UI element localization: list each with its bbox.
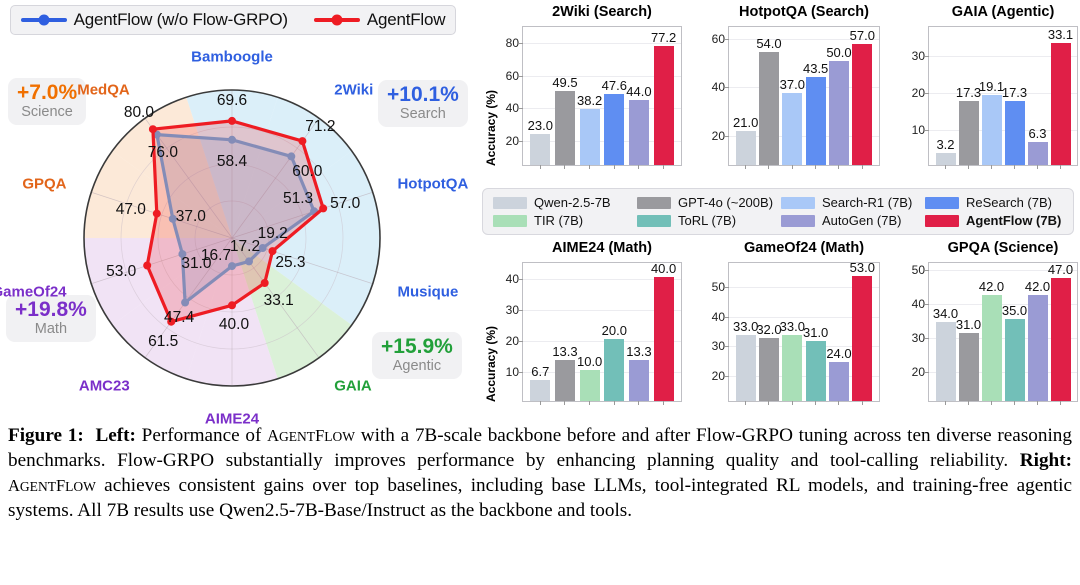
bar-chart-gpqa: GPQA (Science)2030405034.031.042.035.042… bbox=[888, 240, 1078, 414]
bar-value-label: 13.3 bbox=[552, 344, 577, 359]
bar-torl[interactable] bbox=[1005, 319, 1025, 401]
bar-chart-gameof24: GameOf24 (Math)2030405033.032.033.031.02… bbox=[688, 240, 880, 414]
badge-search: +10.1% Search bbox=[378, 80, 468, 127]
badge-agentic: +15.9% Agentic bbox=[372, 332, 462, 379]
bar-group: 47.0 bbox=[1051, 263, 1071, 401]
bar-search-r1[interactable] bbox=[982, 95, 1002, 165]
plot-area: 2030405033.032.033.031.024.053.0 bbox=[728, 262, 880, 402]
bar-value-label: 24.0 bbox=[826, 346, 851, 361]
legend-label: Search-R1 (7B) bbox=[822, 195, 912, 210]
radar-value-after-gaia: 33.1 bbox=[264, 292, 294, 310]
radar-axis-label-gaia: GAIA bbox=[334, 377, 372, 394]
plot-area: 2030405034.031.042.035.042.047.0 bbox=[928, 262, 1078, 402]
x-tick-mark bbox=[792, 401, 793, 405]
bar-group: 24.0 bbox=[829, 263, 849, 401]
x-tick-mark bbox=[815, 165, 816, 169]
x-tick-mark bbox=[1014, 165, 1015, 169]
bar-value-label: 53.0 bbox=[850, 260, 875, 275]
bar-research[interactable] bbox=[604, 94, 624, 165]
bar-tir[interactable] bbox=[782, 335, 802, 401]
plot-area: 2040608023.049.538.247.644.077.2 bbox=[522, 26, 682, 166]
bar-group: 21.0 bbox=[736, 27, 756, 165]
bar-group: 17.3 bbox=[1005, 27, 1025, 165]
radar-value-before-medqa: 76.0 bbox=[148, 144, 178, 162]
radar-value-after-gameof24: 53.0 bbox=[106, 263, 136, 281]
badge-math-pct: +19.8% bbox=[15, 299, 87, 321]
bar-value-label: 77.2 bbox=[651, 30, 676, 45]
radar-value-after-amc23: 61.5 bbox=[148, 333, 178, 351]
caption-text-2b: achieves consistent gains over top basel… bbox=[8, 475, 1072, 521]
y-tick-label: 30 bbox=[712, 339, 725, 353]
bar-value-label: 13.3 bbox=[626, 344, 651, 359]
bar-group: 43.5 bbox=[806, 27, 826, 165]
legend-swatch bbox=[637, 215, 671, 227]
y-tick-label: 40 bbox=[506, 272, 519, 286]
bar-value-label: 49.5 bbox=[552, 75, 577, 90]
x-tick-mark bbox=[663, 165, 664, 169]
bars-container: 34.031.042.035.042.047.0 bbox=[929, 263, 1077, 401]
radar-value-before-gaia: 17.2 bbox=[230, 238, 260, 256]
bar-value-label: 19.1 bbox=[979, 79, 1004, 94]
radar-value-before-amc23: 47.4 bbox=[164, 309, 194, 327]
caption-figure-label: Figure 1: bbox=[8, 425, 84, 446]
bar-search-r1[interactable] bbox=[782, 93, 802, 165]
x-tick-mark bbox=[968, 165, 969, 169]
radar-value-after-bamboogle: 69.6 bbox=[217, 92, 247, 110]
radar-value-after-aime24: 40.0 bbox=[219, 316, 249, 334]
y-tick-label: 80 bbox=[506, 36, 519, 50]
y-tick-label: 30 bbox=[506, 303, 519, 317]
x-tick-mark bbox=[614, 165, 615, 169]
bar-research[interactable] bbox=[806, 77, 826, 165]
x-tick-mark bbox=[862, 165, 863, 169]
y-tick-label: 40 bbox=[712, 80, 725, 94]
badge-science-pct: +7.0% bbox=[17, 82, 77, 104]
bar-value-label: 57.0 bbox=[850, 28, 875, 43]
bar-group: 31.0 bbox=[959, 263, 979, 401]
x-tick-mark bbox=[638, 401, 639, 405]
badge-search-cat: Search bbox=[387, 107, 459, 122]
x-tick-mark bbox=[1037, 401, 1038, 405]
x-tick-mark bbox=[815, 401, 816, 405]
radar-value-before-musique: 19.2 bbox=[258, 225, 288, 243]
chart-title: GameOf24 (Math) bbox=[728, 240, 880, 256]
bar-gpt-4o[interactable] bbox=[959, 101, 979, 165]
bar-group: 13.3 bbox=[555, 263, 575, 401]
x-tick-mark bbox=[1037, 165, 1038, 169]
x-tick-mark bbox=[838, 401, 839, 405]
radar-axis-label-amc23: AMC23 bbox=[79, 377, 130, 394]
caption-right-label: Right: bbox=[1020, 450, 1072, 471]
radar-chart-panel: AgentFlow (w/o Flow-GRPO) AgentFlow +7.0… bbox=[0, 0, 470, 415]
x-tick-mark bbox=[945, 401, 946, 405]
bar-group: 32.0 bbox=[759, 263, 779, 401]
y-tick-label: 20 bbox=[912, 365, 925, 379]
legend-label: AutoGen (7B) bbox=[822, 213, 902, 228]
legend-item-search-r1: Search-R1 (7B) bbox=[781, 195, 919, 210]
bar-group: 6.3 bbox=[1028, 27, 1048, 165]
bars-container: 23.049.538.247.644.077.2 bbox=[523, 27, 681, 165]
x-tick-mark bbox=[745, 165, 746, 169]
bar-group: 53.0 bbox=[852, 263, 872, 401]
figure-1-panel: AgentFlow (w/o Flow-GRPO) AgentFlow +7.0… bbox=[0, 0, 1080, 415]
y-tick-label: 60 bbox=[712, 32, 725, 46]
bar-gpt-4o[interactable] bbox=[555, 91, 575, 165]
badge-science-cat: Science bbox=[17, 105, 77, 120]
radar-value-after-hotpotqa: 57.0 bbox=[330, 195, 360, 213]
radar-value-after-medqa: 80.0 bbox=[124, 104, 154, 122]
legend-swatch bbox=[781, 215, 815, 227]
radar-value-after-2wiki: 71.2 bbox=[305, 118, 335, 136]
x-tick-mark bbox=[564, 165, 565, 169]
legend-swatch bbox=[925, 215, 959, 227]
y-tick-label: 20 bbox=[712, 129, 725, 143]
bar-agentflow[interactable] bbox=[852, 276, 872, 401]
bar-gpt-4o[interactable] bbox=[959, 333, 979, 401]
bar-group: 54.0 bbox=[759, 27, 779, 165]
radar-axis-label-hotpotqa: HotpotQA bbox=[397, 176, 468, 193]
bar-group: 34.0 bbox=[936, 263, 956, 401]
bar-group: 6.7 bbox=[530, 263, 550, 401]
bar-gpt-4o[interactable] bbox=[759, 338, 779, 401]
bar-group: 10.0 bbox=[580, 263, 600, 401]
bar-qwen-2.5-7b[interactable] bbox=[530, 134, 550, 165]
y-tick-label: 50 bbox=[712, 280, 725, 294]
bar-group: 42.0 bbox=[982, 263, 1002, 401]
bar-chart-2wiki: 2Wiki (Search)Accuracy (%)2040608023.049… bbox=[482, 4, 682, 178]
y-tick-label: 50 bbox=[912, 263, 925, 277]
radar-axis-label-bamboogle: Bamboogle bbox=[191, 49, 273, 66]
bar-value-label: 40.0 bbox=[651, 261, 676, 276]
radar-value-before-hotpotqa: 51.3 bbox=[283, 190, 313, 208]
legend-item-agentflow: AgentFlow (7B) bbox=[925, 213, 1063, 228]
bar-value-label: 33.0 bbox=[780, 319, 805, 334]
badge-agentic-cat: Agentic bbox=[381, 359, 453, 374]
y-tick-label: 30 bbox=[912, 331, 925, 345]
x-tick-mark bbox=[614, 401, 615, 405]
bar-value-label: 32.0 bbox=[756, 322, 781, 337]
bar-research[interactable] bbox=[1005, 101, 1025, 165]
radar-value-before-gameof24: 31.0 bbox=[181, 255, 211, 273]
bar-value-label: 47.6 bbox=[602, 78, 627, 93]
y-tick-label: 60 bbox=[506, 69, 519, 83]
radar-axis-label-2wiki: 2Wiki bbox=[334, 82, 373, 99]
bar-value-label: 42.0 bbox=[1025, 279, 1050, 294]
x-tick-mark bbox=[564, 401, 565, 405]
bar-torl[interactable] bbox=[604, 339, 624, 401]
x-tick-mark bbox=[792, 165, 793, 169]
bars-container: 3.217.319.117.36.333.1 bbox=[929, 27, 1077, 165]
x-tick-mark bbox=[1060, 401, 1061, 405]
caption-brand-2: AGENTFLOW bbox=[8, 476, 96, 495]
bar-value-label: 6.3 bbox=[1028, 126, 1046, 141]
y-tick-label: 40 bbox=[912, 297, 925, 311]
legend-label: AgentFlow (7B) bbox=[966, 213, 1061, 228]
bar-group: 35.0 bbox=[1005, 263, 1025, 401]
bar-group: 50.0 bbox=[829, 27, 849, 165]
bar-value-label: 17.3 bbox=[1002, 85, 1027, 100]
radar-axis-label-gameof24: GameOf24 bbox=[0, 283, 67, 300]
legend-swatch bbox=[925, 197, 959, 209]
radar-value-before-bamboogle: 58.4 bbox=[217, 153, 247, 171]
bar-agentflow[interactable] bbox=[654, 277, 674, 401]
radar-axis-label-musique: Musique bbox=[397, 283, 458, 300]
legend-item-qwen-2.5-7b: Qwen-2.5-7B bbox=[493, 195, 631, 210]
bar-value-label: 17.3 bbox=[956, 85, 981, 100]
bar-group: 42.0 bbox=[1028, 263, 1048, 401]
radar-axis-label-medqa: MedQA bbox=[77, 82, 130, 99]
legend-swatch bbox=[637, 197, 671, 209]
x-tick-mark bbox=[838, 165, 839, 169]
bar-agentflow[interactable] bbox=[1051, 278, 1071, 401]
x-tick-mark bbox=[540, 401, 541, 405]
bar-value-label: 44.0 bbox=[626, 84, 651, 99]
bar-group: 38.2 bbox=[580, 27, 600, 165]
bar-group: 13.3 bbox=[629, 263, 649, 401]
bar-value-label: 33.1 bbox=[1048, 27, 1073, 42]
bar-value-label: 21.0 bbox=[733, 115, 758, 130]
y-tick-label: 20 bbox=[506, 134, 519, 148]
bar-group: 23.0 bbox=[530, 27, 550, 165]
bar-torl[interactable] bbox=[806, 341, 826, 401]
x-tick-mark bbox=[589, 165, 590, 169]
legend-label: ToRL (7B) bbox=[678, 213, 736, 228]
caption-left-label: Left: bbox=[95, 425, 135, 446]
bar-value-label: 37.0 bbox=[780, 77, 805, 92]
x-tick-mark bbox=[638, 165, 639, 169]
badge-math-cat: Math bbox=[15, 322, 87, 337]
figure-caption: Figure 1: Left: Performance of AGENTFLOW… bbox=[8, 424, 1072, 524]
legend-item-torl: ToRL (7B) bbox=[637, 213, 775, 228]
y-tick-label: 10 bbox=[912, 123, 925, 137]
chart-title: GAIA (Agentic) bbox=[928, 4, 1078, 20]
bar-group: 33.0 bbox=[782, 263, 802, 401]
x-tick-mark bbox=[745, 401, 746, 405]
x-tick-mark bbox=[768, 165, 769, 169]
legend-item-tir: TIR (7B) bbox=[493, 213, 631, 228]
bar-value-label: 20.0 bbox=[602, 323, 627, 338]
chart-title: HotpotQA (Search) bbox=[728, 4, 880, 20]
bars-container: 33.032.033.031.024.053.0 bbox=[729, 263, 879, 401]
bar-agentflow[interactable] bbox=[1051, 43, 1071, 165]
bar-group: 44.0 bbox=[629, 27, 649, 165]
bar-group: 3.2 bbox=[936, 27, 956, 165]
x-tick-mark bbox=[968, 401, 969, 405]
y-tick-label: 30 bbox=[912, 49, 925, 63]
legend-item-research: ReSearch (7B) bbox=[925, 195, 1063, 210]
radar-value-before-2wiki: 60.0 bbox=[292, 163, 322, 181]
bars-container: 21.054.037.043.550.057.0 bbox=[729, 27, 879, 165]
bar-gpt-4o[interactable] bbox=[555, 360, 575, 401]
x-tick-mark bbox=[862, 401, 863, 405]
bar-group: 37.0 bbox=[782, 27, 802, 165]
bar-group: 49.5 bbox=[555, 27, 575, 165]
bar-tir[interactable] bbox=[580, 370, 600, 401]
bar-value-label: 50.0 bbox=[826, 45, 851, 60]
x-tick-mark bbox=[945, 165, 946, 169]
x-tick-mark bbox=[663, 401, 664, 405]
bar-group: 17.3 bbox=[959, 27, 979, 165]
x-tick-mark bbox=[1060, 165, 1061, 169]
radar-value-before-gpqa: 37.0 bbox=[176, 208, 206, 226]
plot-area: 1020303.217.319.117.36.333.1 bbox=[928, 26, 1078, 166]
bar-value-label: 54.0 bbox=[756, 36, 781, 51]
caption-text-1a: Performance of bbox=[136, 425, 267, 446]
bar-value-label: 23.0 bbox=[528, 118, 553, 133]
bar-charts-panel: Qwen-2.5-7BGPT-4o (~200B)Search-R1 (7B)R… bbox=[470, 0, 1080, 415]
bar-autogen[interactable] bbox=[629, 360, 649, 401]
bar-chart-gaia: GAIA (Agentic)1020303.217.319.117.36.333… bbox=[888, 4, 1078, 178]
y-tick-label: 20 bbox=[712, 369, 725, 383]
y-tick-label: 40 bbox=[506, 101, 519, 115]
bar-agentflow[interactable] bbox=[654, 46, 674, 165]
x-tick-mark bbox=[589, 401, 590, 405]
bar-qwen-2.5-7b[interactable] bbox=[736, 131, 756, 165]
bar-group: 33.1 bbox=[1051, 27, 1071, 165]
bar-value-label: 31.0 bbox=[803, 325, 828, 340]
x-tick-mark bbox=[1014, 401, 1015, 405]
bar-qwen-2.5-7b[interactable] bbox=[736, 335, 756, 401]
bar-value-label: 35.0 bbox=[1002, 303, 1027, 318]
y-axis-label: Accuracy (%) bbox=[484, 326, 498, 402]
bar-value-label: 43.5 bbox=[803, 61, 828, 76]
chart-title: GPQA (Science) bbox=[928, 240, 1078, 256]
radar-value-after-musique: 25.3 bbox=[275, 254, 305, 272]
bar-group: 47.6 bbox=[604, 27, 624, 165]
bar-value-label: 42.0 bbox=[979, 279, 1004, 294]
bar-group: 77.2 bbox=[654, 27, 674, 165]
legend-label: GPT-4o (~200B) bbox=[678, 195, 773, 210]
bar-agentflow[interactable] bbox=[852, 44, 872, 165]
bar-qwen-2.5-7b[interactable] bbox=[936, 322, 956, 401]
bar-chart-aime24: AIME24 (Math)Accuracy (%)102030406.713.3… bbox=[482, 240, 682, 414]
x-tick-mark bbox=[991, 401, 992, 405]
x-tick-mark bbox=[768, 401, 769, 405]
caption-brand-1: AGENTFLOW bbox=[267, 426, 355, 445]
bar-group: 33.0 bbox=[736, 263, 756, 401]
chart-title: 2Wiki (Search) bbox=[522, 4, 682, 20]
bar-chart-hotpotqa: HotpotQA (Search)20406021.054.037.043.55… bbox=[688, 4, 880, 178]
legend-label: TIR (7B) bbox=[534, 213, 583, 228]
bar-group: 57.0 bbox=[852, 27, 872, 165]
bar-value-label: 6.7 bbox=[531, 364, 549, 379]
badge-math: +19.8% Math bbox=[6, 295, 96, 342]
legend-label: Qwen-2.5-7B bbox=[534, 195, 611, 210]
badge-search-pct: +10.1% bbox=[387, 84, 459, 106]
legend-item-gpt-4o: GPT-4o (~200B) bbox=[637, 195, 775, 210]
bar-value-label: 10.0 bbox=[577, 354, 602, 369]
radar-axis-label-gpqa: GPQA bbox=[22, 176, 66, 193]
x-tick-mark bbox=[540, 165, 541, 169]
y-tick-label: 10 bbox=[506, 365, 519, 379]
bar-qwen-2.5-7b[interactable] bbox=[936, 153, 956, 165]
legend-item-autogen: AutoGen (7B) bbox=[781, 213, 919, 228]
legend-swatch bbox=[781, 197, 815, 209]
badge-science: +7.0% Science bbox=[8, 78, 86, 125]
bar-value-label: 31.0 bbox=[956, 317, 981, 332]
y-tick-label: 40 bbox=[712, 310, 725, 324]
bar-autogen[interactable] bbox=[1028, 142, 1048, 165]
bar-value-label: 38.2 bbox=[577, 93, 602, 108]
bar-autogen[interactable] bbox=[629, 100, 649, 165]
y-tick-label: 20 bbox=[506, 334, 519, 348]
legend-swatch bbox=[493, 197, 527, 209]
bar-group: 31.0 bbox=[806, 263, 826, 401]
bar-autogen[interactable] bbox=[1028, 295, 1048, 401]
chart-title: AIME24 (Math) bbox=[522, 240, 682, 256]
bar-autogen[interactable] bbox=[829, 61, 849, 165]
bar-autogen[interactable] bbox=[829, 362, 849, 401]
legend-swatch bbox=[493, 215, 527, 227]
bar-value-label: 34.0 bbox=[933, 306, 958, 321]
x-tick-mark bbox=[991, 165, 992, 169]
bar-value-label: 47.0 bbox=[1048, 262, 1073, 277]
y-axis-label: Accuracy (%) bbox=[484, 90, 498, 166]
bar-group: 19.1 bbox=[982, 27, 1002, 165]
badge-agentic-pct: +15.9% bbox=[381, 336, 453, 358]
bar-search-r1[interactable] bbox=[580, 109, 600, 165]
bar-group: 40.0 bbox=[654, 263, 674, 401]
bar-chart-legend: Qwen-2.5-7BGPT-4o (~200B)Search-R1 (7B)R… bbox=[482, 188, 1074, 235]
legend-label: ReSearch (7B) bbox=[966, 195, 1052, 210]
bar-value-label: 33.0 bbox=[733, 319, 758, 334]
bar-group: 20.0 bbox=[604, 263, 624, 401]
bar-value-label: 3.2 bbox=[936, 137, 954, 152]
plot-area: 102030406.713.310.020.013.340.0 bbox=[522, 262, 682, 402]
y-tick-label: 20 bbox=[912, 86, 925, 100]
bar-gpt-4o[interactable] bbox=[759, 52, 779, 165]
bar-qwen-2.5-7b[interactable] bbox=[530, 380, 550, 401]
plot-area: 20406021.054.037.043.550.057.0 bbox=[728, 26, 880, 166]
radar-value-after-gpqa: 47.0 bbox=[116, 201, 146, 219]
bar-tir[interactable] bbox=[982, 295, 1002, 401]
bars-container: 6.713.310.020.013.340.0 bbox=[523, 263, 681, 401]
